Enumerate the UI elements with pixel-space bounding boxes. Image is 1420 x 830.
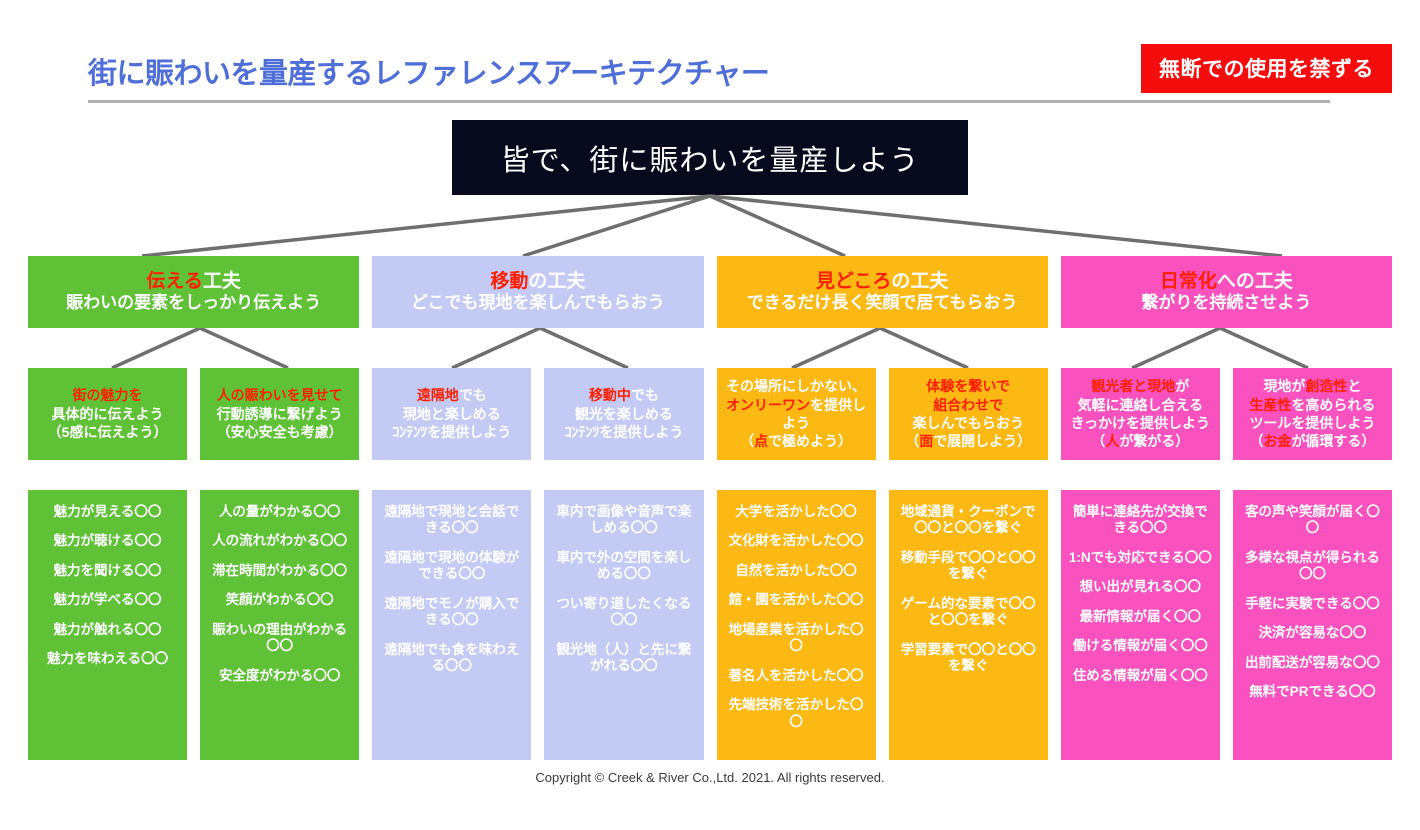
subbox-souzousei-seisansei[interactable]: 現地が創造性と生産性を高められるツールを提供しよう（お金が循環する） — [1233, 368, 1392, 460]
subbox-keyword: お金 — [1263, 433, 1291, 449]
subbox-text: 行動誘導に繋げよう — [217, 406, 343, 422]
list-item[interactable]: 出前配送が容易な〇〇 — [1239, 655, 1386, 671]
subbox-text: で展開しよう） — [933, 433, 1031, 449]
list-item[interactable]: 最新情報が届く〇〇 — [1067, 609, 1214, 625]
detail-list-miryoku-list[interactable]: 魅力が見える〇〇魅力が聴ける〇〇魅力を聞ける〇〇魅力が学べる〇〇魅力が触れる〇〇… — [28, 490, 187, 760]
title-divider — [88, 100, 1330, 103]
list-item[interactable]: 遠隔地でも食を味わえる〇〇 — [378, 642, 525, 675]
subbox-line: 組合わせで — [933, 396, 1003, 414]
list-item[interactable]: 車内で外の空間を楽しめる〇〇 — [550, 550, 697, 583]
subbox-text: （5感に伝えよう） — [48, 424, 168, 440]
list-item[interactable]: 大学を活かした〇〇 — [723, 504, 870, 520]
list-item[interactable]: 遠隔地で現地の体験ができる〇〇 — [378, 550, 525, 583]
list-item[interactable]: 無料でPRできる〇〇 — [1239, 684, 1386, 700]
subbox-text: 観光を楽しめる — [575, 406, 673, 422]
subbox-line: ｺﾝﾃﾝﾂを提供しよう — [392, 423, 511, 441]
list-item[interactable]: 客の声や笑顔が届く〇〇 — [1239, 504, 1386, 537]
category-subtitle: できるだけ長く笑顔で居てもらおう — [747, 293, 1018, 314]
list-item[interactable]: 車内で画像や音声で楽しめる〇〇 — [550, 504, 697, 537]
column-gap — [531, 490, 544, 760]
category-title-keyword: 伝える — [146, 271, 202, 292]
subbox-text: と — [1347, 378, 1361, 394]
subbox-line: 移動中でも — [589, 386, 659, 404]
subbox-line: 遠隔地でも — [417, 386, 487, 404]
usage-notice-badge: 無断での使用を禁ずる — [1141, 44, 1392, 93]
subbox-keyword: 街の魅力を — [73, 387, 143, 403]
column-gap — [704, 256, 717, 328]
column-gap — [704, 490, 717, 760]
category-title-rest: 工夫 — [203, 271, 241, 292]
list-item[interactable]: 観光地（人）と先に繋がれる〇〇 — [550, 642, 697, 675]
root-goal-box: 皆で、街に賑わいを量産しよう — [452, 120, 968, 195]
subbox-keyword: 人の賑わいを見せて — [217, 387, 343, 403]
column-gap — [531, 368, 544, 460]
subbox-text: でも — [459, 387, 487, 403]
subbox-text: が — [1175, 378, 1189, 394]
subbox-text: その場所にしかない、 — [726, 378, 866, 394]
category-box-midokoro[interactable]: 見どころの工夫できるだけ長く笑顔で居てもらおう — [717, 256, 1048, 328]
category-row: 伝える工夫賑わいの要素をしっかり伝えよう移動の工夫どこでも現地を楽しんでもらおう… — [28, 256, 1392, 328]
subbox-text: 現地と楽しめる — [403, 406, 501, 422]
detail-list-tsunagu-list[interactable]: 地域通貨・クーポンで〇〇と〇〇を繋ぐ移動手段で〇〇と〇〇を繋ぐゲーム的な要素で〇… — [889, 490, 1048, 760]
subbox-text: きっかけを提供しよう — [1071, 415, 1210, 431]
list-item[interactable]: 1:Nでも対応できる〇〇 — [1067, 550, 1214, 566]
page-title: 街に賑わいを量産するレファレンスアーキテクチャー — [88, 50, 769, 92]
detail-list-enkakuchi-list[interactable]: 遠隔地で現地と会話できる〇〇遠隔地で現地の体験ができる〇〇遠隔地でモノが購入でき… — [372, 490, 531, 760]
list-item[interactable]: 著名人を活かした〇〇 — [723, 668, 870, 684]
category-box-tsutaeru[interactable]: 伝える工夫賑わいの要素をしっかり伝えよう — [28, 256, 359, 328]
category-title: 日常化への工夫 — [1160, 270, 1293, 293]
subbox-text: （ — [740, 433, 754, 449]
list-item[interactable]: 賑わいの理由がわかる〇〇 — [206, 622, 353, 655]
subbox-line: 人の賑わいを見せて — [217, 386, 343, 404]
category-subtitle: 繋がりを持続させよう — [1141, 293, 1311, 314]
subbox-keyword: 移動中 — [589, 387, 631, 403]
list-item[interactable]: 遠隔地でモノが購入できる〇〇 — [378, 596, 525, 629]
list-item[interactable]: 文化財を活かした〇〇 — [723, 533, 870, 549]
list-item[interactable]: 遠隔地で現地と会話できる〇〇 — [378, 504, 525, 537]
category-title: 伝える工夫 — [146, 270, 240, 293]
subbox-text: ｺﾝﾃﾝﾂを提供しよう — [564, 424, 683, 440]
column-gap — [359, 490, 372, 760]
subbox-only-one[interactable]: その場所にしかない、オンリーワンを提供しよう（点で極めよう） — [717, 368, 876, 460]
detail-list-idouchu-list[interactable]: 車内で画像や音声で楽しめる〇〇車内で外の空間を楽しめる〇〇つい寄り道したくなる〇… — [544, 490, 703, 760]
category-title-keyword: 見どころ — [816, 271, 891, 292]
list-item[interactable]: 魅力が触れる〇〇 — [34, 622, 181, 638]
list-item[interactable]: 自然を活かした〇〇 — [723, 563, 870, 579]
subbox-text: が繋がる） — [1119, 433, 1189, 449]
subbox-line: （5感に伝えよう） — [48, 423, 168, 441]
list-item[interactable]: 魅力が聴ける〇〇 — [34, 533, 181, 549]
column-gap — [1220, 368, 1233, 460]
subbox-text: で極めよう） — [768, 433, 852, 449]
subbox-line: ツールを提供しよう — [1249, 414, 1375, 432]
subbox-text: ｺﾝﾃﾝﾂを提供しよう — [392, 424, 511, 440]
list-item[interactable]: 地場産業を活かした〇〇 — [723, 622, 870, 655]
category-box-nichijouka[interactable]: 日常化への工夫繋がりを持続させよう — [1061, 256, 1392, 328]
column-gap — [359, 368, 372, 460]
subbox-text: （ — [1249, 433, 1263, 449]
list-item[interactable]: 手軽に実験できる〇〇 — [1239, 596, 1386, 612]
list-item[interactable]: 滞在時間がわかる〇〇 — [206, 563, 353, 579]
subbox-line: 観光者と現地が — [1091, 377, 1189, 395]
subbox-line: その場所にしかない、 — [726, 377, 866, 395]
subbox-line: 行動誘導に繋げよう — [217, 405, 343, 423]
column-gap — [1220, 490, 1233, 760]
list-item[interactable]: 移動手段で〇〇と〇〇を繋ぐ — [895, 550, 1042, 583]
list-item[interactable]: 魅力が見える〇〇 — [34, 504, 181, 520]
subbox-machi-no-miryoku[interactable]: 街の魅力を具体的に伝えよう（5感に伝えよう） — [28, 368, 187, 460]
subbox-line: 楽しんでもらおう — [913, 414, 1024, 432]
column-gap — [1048, 490, 1061, 760]
subbox-line: （面で展開しよう） — [905, 432, 1031, 450]
subbox-line: 街の魅力を — [73, 386, 143, 404]
category-title-rest: への工夫 — [1217, 271, 1293, 292]
subbox-text: を高められる — [1291, 397, 1375, 413]
list-item[interactable]: 住める情報が届く〇〇 — [1067, 668, 1214, 684]
subbox-line: （お金が循環する） — [1249, 432, 1375, 450]
category-subtitle: 賑わいの要素をしっかり伝えよう — [66, 293, 321, 314]
subbox-row: 街の魅力を具体的に伝えよう（5感に伝えよう）人の賑わいを見せて行動誘導に繋げよう… — [28, 368, 1392, 460]
subbox-line: （人が繋がる） — [1091, 432, 1189, 450]
subbox-kankoukyaku-genchi[interactable]: 観光者と現地が気軽に連絡し合えるきっかけを提供しよう（人が繋がる） — [1061, 368, 1220, 460]
detail-list-row: 魅力が見える〇〇魅力が聴ける〇〇魅力を聞ける〇〇魅力が学べる〇〇魅力が触れる〇〇… — [28, 490, 1392, 760]
list-item[interactable]: ゲーム的な要素で〇〇と〇〇を繋ぐ — [895, 596, 1042, 629]
list-item[interactable]: 人の流れがわかる〇〇 — [206, 533, 353, 549]
column-gap — [704, 368, 717, 460]
subbox-line: 具体的に伝えよう — [52, 405, 164, 423]
subbox-keyword: 人 — [1105, 433, 1119, 449]
subbox-line: きっかけを提供しよう — [1071, 414, 1210, 432]
subbox-keyword: 観光者と現地 — [1091, 378, 1175, 394]
category-title: 見どころの工夫 — [816, 270, 948, 293]
list-item[interactable]: 決済が容易な〇〇 — [1239, 625, 1386, 641]
subbox-text: 具体的に伝えよう — [52, 406, 164, 422]
list-item[interactable]: 笑顔がわかる〇〇 — [206, 592, 353, 608]
list-item[interactable]: 魅力が学べる〇〇 — [34, 592, 181, 608]
column-gap — [359, 256, 372, 328]
column-gap — [876, 490, 889, 760]
subbox-line: （点で極めよう） — [740, 432, 852, 450]
category-title-keyword: 移動 — [490, 271, 528, 292]
copyright-footer: Copyright © Creek & River Co.,Ltd. 2021.… — [0, 770, 1420, 785]
list-item[interactable]: 魅力を味わえる〇〇 — [34, 651, 181, 667]
subbox-text: が循環する） — [1291, 433, 1375, 449]
detail-list-renraku-list[interactable]: 簡単に連絡先が交換できる〇〇1:Nでも対応できる〇〇想い出が見れる〇〇最新情報が… — [1061, 490, 1220, 760]
list-item[interactable]: 多様な視点が得られる〇〇 — [1239, 550, 1386, 583]
category-title-rest: の工夫 — [528, 271, 585, 292]
subbox-text: 気軽に連絡し合える — [1078, 397, 1204, 413]
subbox-text: でも — [631, 387, 659, 403]
subbox-line: 現地と楽しめる — [403, 405, 501, 423]
subbox-keyword: 生産性 — [1249, 397, 1291, 413]
list-item[interactable]: つい寄り道したくなる〇〇 — [550, 596, 697, 629]
subbox-hito-no-nigiwai[interactable]: 人の賑わいを見せて行動誘導に繋げよう（安心安全も考慮） — [200, 368, 359, 460]
detail-list-nigiwai-list[interactable]: 人の量がわかる〇〇人の流れがわかる〇〇滞在時間がわかる〇〇笑顔がわかる〇〇賑わい… — [200, 490, 359, 760]
subbox-keyword: 組合わせで — [933, 397, 1003, 413]
list-item[interactable]: 働ける情報が届く〇〇 — [1067, 638, 1214, 654]
list-item[interactable]: 人の量がわかる〇〇 — [206, 504, 353, 520]
subbox-keyword: 体験を繋いで — [926, 378, 1010, 394]
list-item[interactable]: 地域通貨・クーポンで〇〇と〇〇を繋ぐ — [895, 504, 1042, 537]
category-title-keyword: 日常化 — [1160, 271, 1217, 292]
detail-list-tool-list[interactable]: 客の声や笑顔が届く〇〇多様な視点が得られる〇〇手軽に実験できる〇〇決済が容易な〇… — [1233, 490, 1392, 760]
category-title: 移動の工夫 — [490, 270, 585, 293]
subbox-line: 生産性を高められる — [1249, 396, 1375, 414]
subbox-text: ツールを提供しよう — [1249, 415, 1375, 431]
list-item[interactable]: 想い出が見れる〇〇 — [1067, 579, 1214, 595]
subbox-keyword: 面 — [919, 433, 933, 449]
column-gap — [1048, 256, 1061, 328]
category-title-rest: の工夫 — [891, 271, 948, 292]
subbox-line: 観光を楽しめる — [575, 405, 673, 423]
subbox-line: 現地が創造性と — [1263, 377, 1361, 395]
subbox-line: ｺﾝﾃﾝﾂを提供しよう — [564, 423, 683, 441]
subbox-line: 体験を繋いで — [926, 377, 1010, 395]
subbox-keyword: 点 — [754, 433, 768, 449]
subbox-idouchu[interactable]: 移動中でも観光を楽しめるｺﾝﾃﾝﾂを提供しよう — [544, 368, 703, 460]
slide-canvas: 街に賑わいを量産するレファレンスアーキテクチャー 無断での使用を禁ずる 皆で、街… — [0, 0, 1420, 830]
list-item[interactable]: 先端技術を活かした〇〇 — [723, 697, 870, 730]
subbox-line: オンリーワンを提供しよう — [720, 396, 873, 433]
subbox-text: （ — [1091, 433, 1105, 449]
column-gap — [187, 368, 200, 460]
subbox-line: 気軽に連絡し合える — [1078, 396, 1204, 414]
subbox-keyword: オンリーワン — [726, 397, 810, 413]
subbox-text: （安心安全も考慮） — [217, 424, 343, 440]
subbox-taiken-tsunagu[interactable]: 体験を繋いで組合わせで楽しんでもらおう（面で展開しよう） — [889, 368, 1048, 460]
subbox-keyword: 遠隔地 — [417, 387, 459, 403]
subbox-text: （ — [905, 433, 919, 449]
category-box-idou[interactable]: 移動の工夫どこでも現地を楽しんでもらおう — [372, 256, 703, 328]
list-item[interactable]: 魅力を聞ける〇〇 — [34, 563, 181, 579]
list-item[interactable]: 学習要素で〇〇と〇〇を繋ぐ — [895, 642, 1042, 675]
list-item[interactable]: 館・園を活かした〇〇 — [723, 592, 870, 608]
list-item[interactable]: 簡単に連絡先が交換できる〇〇 — [1067, 504, 1214, 537]
subbox-text: 現地が — [1263, 378, 1305, 394]
column-gap — [876, 368, 889, 460]
subbox-enkakuchi[interactable]: 遠隔地でも現地と楽しめるｺﾝﾃﾝﾂを提供しよう — [372, 368, 531, 460]
column-gap — [187, 490, 200, 760]
list-item[interactable]: 安全度がわかる〇〇 — [206, 668, 353, 684]
column-gap — [1048, 368, 1061, 460]
category-subtitle: どこでも現地を楽しんでもらおう — [411, 293, 665, 314]
detail-list-ikashita-list[interactable]: 大学を活かした〇〇文化財を活かした〇〇自然を活かした〇〇館・園を活かした〇〇地場… — [717, 490, 876, 760]
subbox-keyword: 創造性 — [1305, 378, 1347, 394]
subbox-line: （安心安全も考慮） — [217, 423, 343, 441]
subbox-text: 楽しんでもらおう — [913, 415, 1024, 431]
